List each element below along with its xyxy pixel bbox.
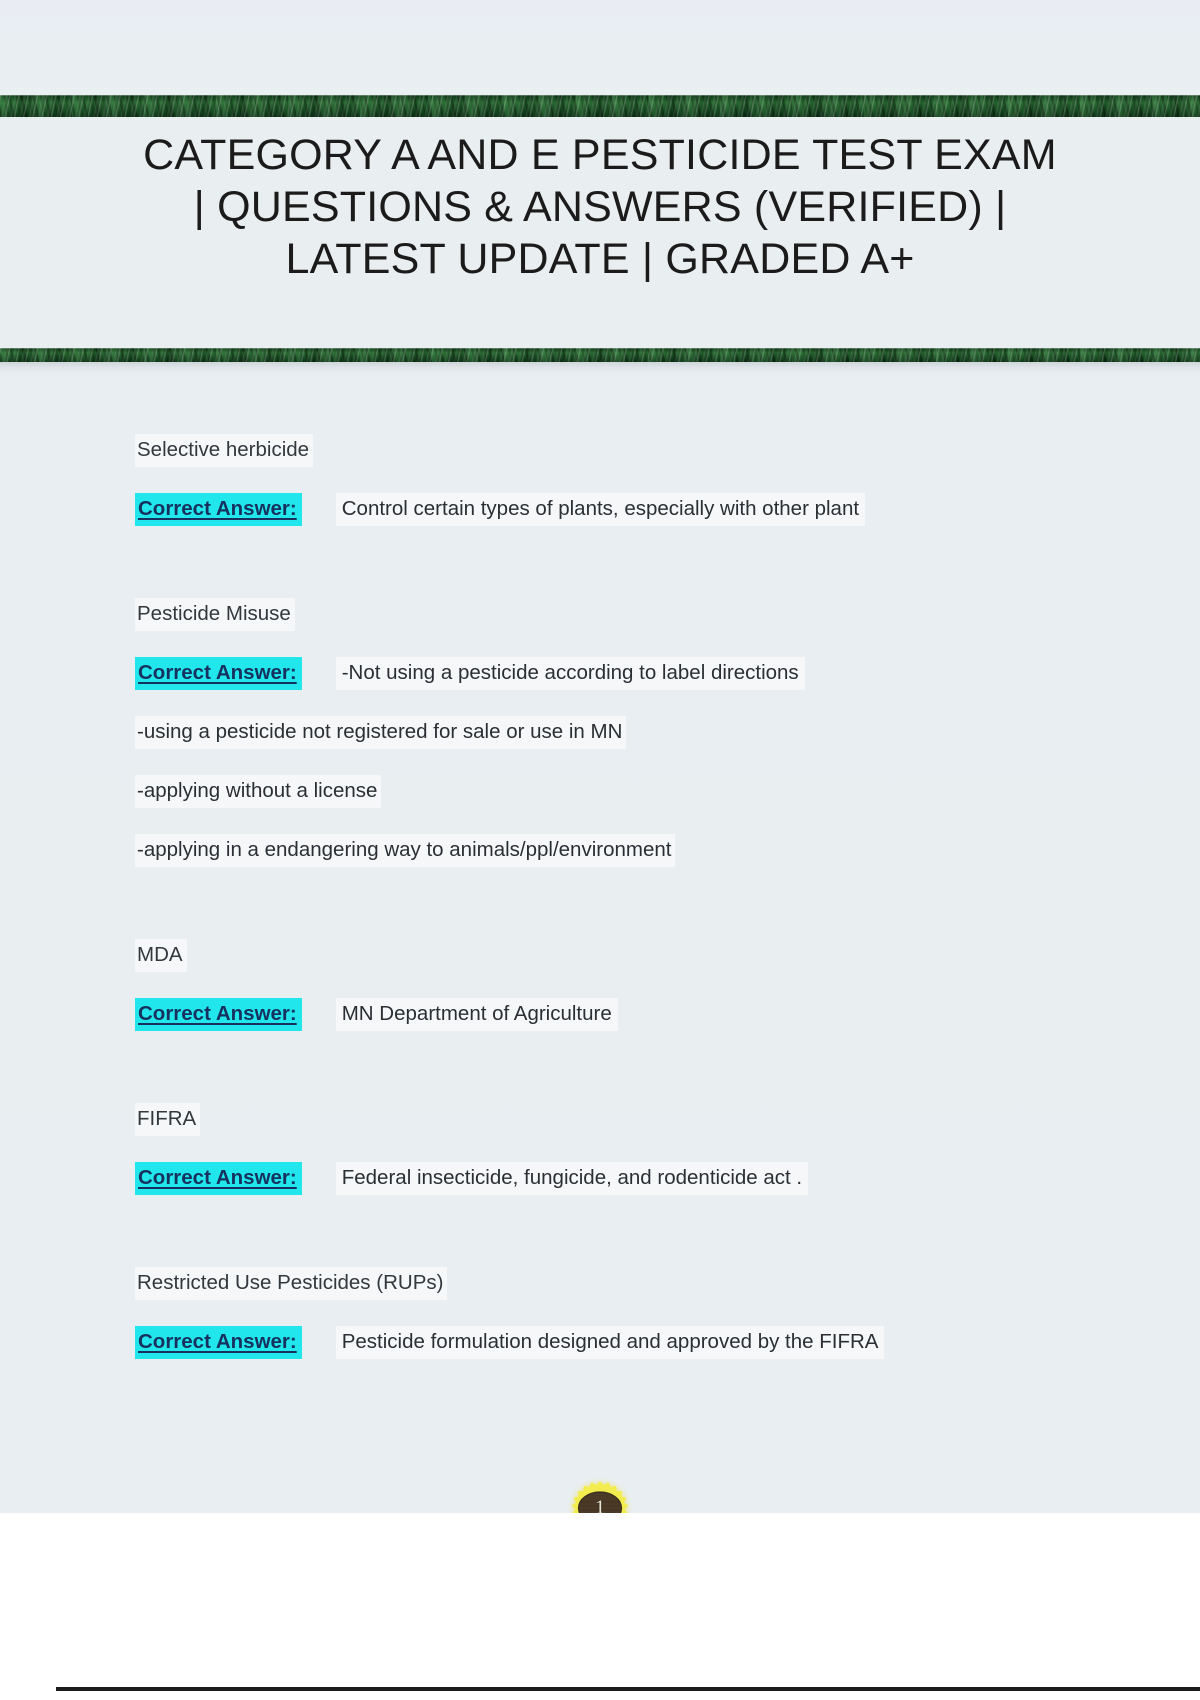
header-bottom-green-bar <box>0 348 1200 362</box>
qa-entry: Selective herbicide Correct Answer: Cont… <box>135 434 1085 526</box>
answer-extra-text: -applying in a endangering way to animal… <box>135 834 675 867</box>
answer-row: Correct Answer: MN Department of Agricul… <box>135 998 1085 1031</box>
header-top-green-bar <box>0 95 1200 117</box>
entry-spacer <box>135 893 1085 939</box>
page-top-band <box>0 0 1200 95</box>
page-title: CATEGORY A AND E PESTICIDE TEST EXAM | Q… <box>135 129 1065 285</box>
term-line: Restricted Use Pesticides (RUPs) <box>135 1267 1085 1300</box>
qa-entry: Restricted Use Pesticides (RUPs) Correct… <box>135 1267 1085 1359</box>
entry-spacer <box>135 552 1085 598</box>
answer-text: Control certain types of plants, especia… <box>336 493 865 526</box>
term-text: Pesticide Misuse <box>135 598 295 631</box>
correct-answer-label: Correct Answer: <box>135 998 302 1031</box>
entry-spacer <box>135 1057 1085 1103</box>
header-separator <box>0 362 1200 372</box>
content-sheet: Selective herbicide Correct Answer: Cont… <box>0 372 1200 1513</box>
qa-list: Selective herbicide Correct Answer: Cont… <box>135 434 1085 1385</box>
correct-answer-label: Correct Answer: <box>135 1162 302 1195</box>
answer-row: Correct Answer: Pesticide formulation de… <box>135 1326 1085 1359</box>
term-line: MDA <box>135 939 1085 972</box>
answer-text: Federal insecticide, fungicide, and rode… <box>336 1162 808 1195</box>
answer-extra-line: -applying in a endangering way to animal… <box>135 834 1085 867</box>
term-line: FIFRA <box>135 1103 1085 1136</box>
qa-entry: Pesticide Misuse Correct Answer: -Not us… <box>135 598 1085 867</box>
term-text: Restricted Use Pesticides (RUPs) <box>135 1267 447 1300</box>
answer-row: Correct Answer: Federal insecticide, fun… <box>135 1162 1085 1195</box>
answer-row: Correct Answer: Control certain types of… <box>135 493 1085 526</box>
correct-answer-label: Correct Answer: <box>135 657 302 690</box>
document-page: CATEGORY A AND E PESTICIDE TEST EXAM | Q… <box>0 0 1200 1700</box>
answer-extra-text: -applying without a license <box>135 775 381 808</box>
correct-answer-label: Correct Answer: <box>135 1326 302 1359</box>
answer-text: MN Department of Agriculture <box>336 998 618 1031</box>
term-text: Selective herbicide <box>135 434 313 467</box>
footer-divider <box>56 1687 1200 1691</box>
qa-entry: FIFRA Correct Answer: Federal insecticid… <box>135 1103 1085 1195</box>
entry-spacer <box>135 1221 1085 1267</box>
term-line: Pesticide Misuse <box>135 598 1085 631</box>
document-header: CATEGORY A AND E PESTICIDE TEST EXAM | Q… <box>0 117 1200 348</box>
answer-extra-line: -applying without a license <box>135 775 1085 808</box>
term-line: Selective herbicide <box>135 434 1085 467</box>
term-text: MDA <box>135 939 187 972</box>
answer-text: -Not using a pesticide according to labe… <box>336 657 805 690</box>
correct-answer-label: Correct Answer: <box>135 493 302 526</box>
qa-entry: MDA Correct Answer: MN Department of Agr… <box>135 939 1085 1031</box>
answer-extra-text: -using a pesticide not registered for sa… <box>135 716 626 749</box>
footer-white-area <box>0 1513 1200 1700</box>
answer-extra-line: -using a pesticide not registered for sa… <box>135 716 1085 749</box>
answer-text: Pesticide formulation designed and appro… <box>336 1326 885 1359</box>
answer-row: Correct Answer: -Not using a pesticide a… <box>135 657 1085 690</box>
term-text: FIFRA <box>135 1103 200 1136</box>
